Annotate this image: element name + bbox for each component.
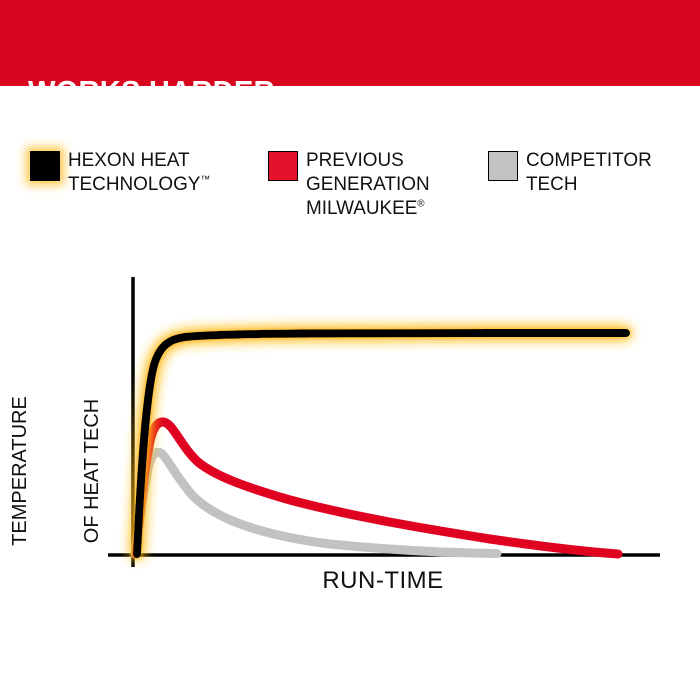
legend-label-previous-line-1: PREVIOUS bbox=[306, 149, 404, 171]
legend-label-competitor-line-1: COMPETITOR bbox=[526, 149, 652, 171]
x-axis-label: RUN-TIME bbox=[133, 567, 633, 595]
chart-legend: HEXON HEATTECHNOLOGY™ PREVIOUSGENERATION… bbox=[0, 148, 700, 248]
legend-label-hexon-line-2: TECHNOLOGY bbox=[68, 173, 200, 195]
y-axis-label-line-2: OF HEAT TECH bbox=[80, 356, 104, 586]
y-axis-label: TEMPERATURE OF HEAT TECH bbox=[0, 356, 152, 586]
y-axis-label-line-1: TEMPERATURE bbox=[8, 356, 32, 586]
legend-swatch-hexon-icon bbox=[30, 151, 60, 181]
header-banner: WORKS HARDER IN FREEZING TEMPS bbox=[0, 0, 700, 86]
trademark-mark: ™ bbox=[200, 175, 210, 186]
legend-label-previous-line-3: MILWAUKEE bbox=[306, 197, 417, 219]
registered-mark: ® bbox=[417, 199, 424, 210]
legend-label-competitor-line-2: TECH bbox=[526, 173, 578, 195]
banner-title-line-1: WORKS HARDER bbox=[28, 75, 324, 109]
legend-label-previous: PREVIOUSGENERATIONMILWAUKEE® bbox=[306, 148, 430, 220]
legend-label-hexon: HEXON HEATTECHNOLOGY™ bbox=[68, 148, 210, 196]
series-line-previous-generation-milwaukee bbox=[136, 422, 618, 554]
legend-label-previous-line-2: GENERATION bbox=[306, 173, 430, 195]
chart: TEMPERATURE OF HEAT TECH RUN-TIME bbox=[0, 255, 700, 615]
legend-swatch-competitor-icon bbox=[488, 151, 518, 181]
legend-swatch-previous-icon bbox=[268, 151, 298, 181]
legend-label-hexon-line-1: HEXON HEAT bbox=[68, 149, 190, 171]
legend-label-competitor: COMPETITORTECH bbox=[526, 148, 652, 196]
